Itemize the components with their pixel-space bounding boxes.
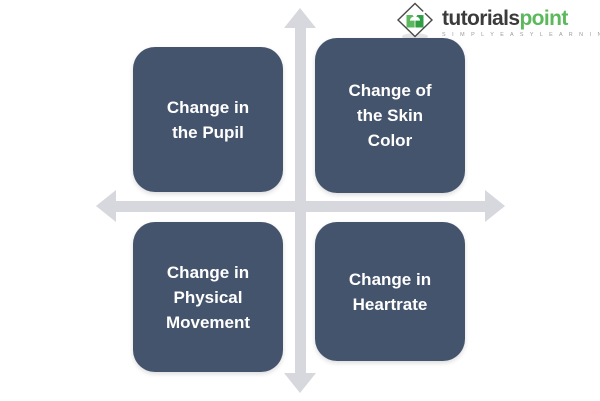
quadrant-box-bottom-left: Change inPhysicalMovement	[133, 222, 283, 372]
arrow-up-icon	[284, 8, 316, 28]
quadrant-box-top-right: Change ofthe SkinColor	[315, 38, 465, 193]
logo-text: tutorialspoint S I M P L Y E A S Y L E A…	[442, 6, 600, 38]
logo-word-tutorials: tutorials	[442, 7, 519, 30]
diagram-canvas: tutorialspoint S I M P L Y E A S Y L E A…	[0, 0, 600, 401]
horizontal-axis	[116, 201, 485, 212]
logo-word-point: point	[519, 7, 567, 30]
quadrant-box-top-left: Change inthe Pupil	[133, 47, 283, 192]
logo-diamond-book-icon	[394, 1, 436, 43]
arrow-down-icon	[284, 373, 316, 393]
logo-tagline: S I M P L Y E A S Y L E A R N I N G	[442, 33, 600, 38]
quadrant-box-bottom-right: Change inHeartrate	[315, 222, 465, 361]
arrow-right-icon	[485, 190, 505, 222]
arrow-left-icon	[96, 190, 116, 222]
tutorialspoint-logo: tutorialspoint S I M P L Y E A S Y L E A…	[394, 2, 594, 42]
